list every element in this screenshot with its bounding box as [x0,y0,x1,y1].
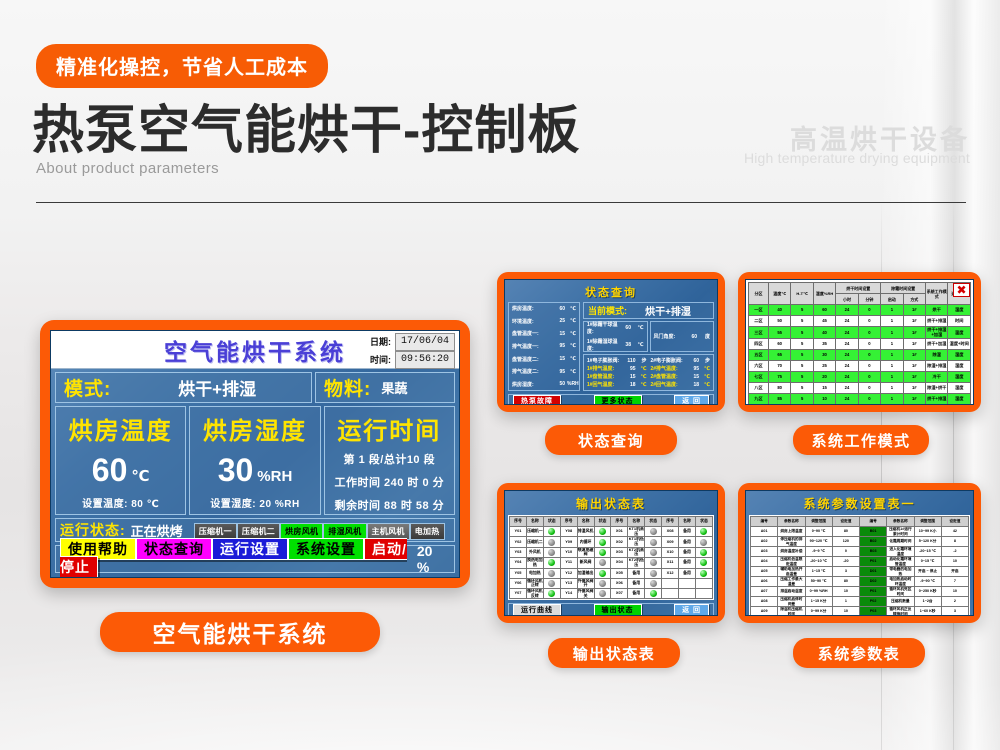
table-row: A07排湿启动湿度0~99 %RH10P01循环风机死区时间0~250 K秒10 [751,587,969,597]
param-name-right: 化霜周期时间 [887,537,914,547]
param-value-right[interactable]: 10 [941,557,968,567]
param-range-right: 开启 ~ 停止 [914,567,941,577]
output-th: 序号 [611,517,628,527]
work-mode-th: 温度℃ [768,283,790,305]
status-led-on [548,559,555,566]
temperature-card-title: 烘房温度 [69,411,173,446]
work-mode-cell-h: 24 [836,316,858,327]
output-cell-name [679,588,696,598]
param-value-left[interactable]: -20 [832,557,859,567]
work-mode-cell-temp: 40 [768,305,790,316]
param-name-left: 辅助电加热开启温差 [778,567,805,577]
work-mode-cell-temp: 70 [768,360,790,371]
current-mode-value: 烘干+排湿 [627,303,709,318]
current-mode-label: 当前模式: [588,304,627,317]
output-cell-name: KT2机低压 [628,558,645,568]
status-led-off [548,549,555,556]
work-mode-cell-way: 1# [903,360,925,371]
table-row: A08压缩机启停时间差1~15 K分1P02压缩机数量1~2台2 [751,597,969,607]
humidity-setpoint[interactable]: 设置湿度: 20 %RH [210,495,299,510]
output-cell-state [695,568,712,578]
runtime-lines: 第 1 段/总计10 段 工作时间 240 时 0 分 剩余时间 88 时 58… [334,451,444,513]
status-led-off [650,539,657,546]
work-mode-screen: 分区温度℃H-T℃湿度%RH烘干时间设置除霜时间设置系统工作模式退出模式小时分钟… [745,279,974,405]
output-cell-state [645,547,662,557]
output-cell-name: KT1机高压 [628,527,645,537]
table-row: Y03外风机Y10喷淋电磁阀X03KT2机高压X10备用 [510,547,713,557]
output-cell-name: 循环风机反转 [526,588,543,598]
param-value-left[interactable]: 80 [832,577,859,587]
param-th: 调整范围 [914,517,941,527]
work-mode-th: 小时 [836,294,858,305]
mode-label: 模式: [64,374,111,401]
work-mode-cell-ht: 5 [791,349,813,360]
damper-row-1: 风门角度:60度 [654,333,711,340]
work-mode-cell-temp: 75 [768,371,790,382]
work-mode-cell-zone: 十区 [749,404,769,405]
work-mode-cell-m: 0 [858,404,880,405]
output-cell-state [543,558,560,568]
runtime-segment: 第 1 段/总计10 段 [344,451,436,467]
main-button-2[interactable]: 状态查询 [136,538,212,560]
work-mode-cell-way: 1# [903,393,925,404]
work-mode-cell-temp: 65 [768,349,790,360]
param-range-left: 50~90 ℃ [805,577,832,587]
work-mode-cell-ht: 5 [791,393,813,404]
work-mode-cell-ht: 5 [791,327,813,339]
param-code-left: A08 [751,597,778,607]
output-cell-name: 压缩机一 [526,527,543,537]
table-row: A01烘房上限温度0~90 ℃80B01压缩机1#运行累计时间10~99 K小4… [751,527,969,537]
status-led-off [650,570,657,577]
work-mode-cell-exit: 湿度 [948,305,971,316]
output-cell-id: Y01 [510,527,527,537]
main-button-bar: 使用帮助状态查询运行设置系统设置启动/停止 20 % [55,545,455,573]
output-cell-id: X11 [662,558,679,568]
status-led-on [599,528,606,535]
status-query-footer: 热泵故障更多状态返 回 [508,394,714,405]
output-th: 名称 [679,517,696,527]
work-mode-cell-way: 1# [903,404,925,405]
param-range-right: 1~60 K秒 [914,607,941,617]
output-th: 状态 [695,517,712,527]
work-mode-cell-way: 1# [903,371,925,382]
time-value: 09:56:20 [395,351,455,369]
output-cell-id: X07 [611,588,628,598]
temperature-set-unit: ℃ [147,499,160,510]
work-mode-cell-ht: 5 [791,371,813,382]
status-query-button-1[interactable]: 热泵故障 [513,395,561,405]
output-th: 状态 [594,517,611,527]
param-th: 调整范围 [805,517,832,527]
table-row: 九区8551024011#烘干+排湿湿度 [749,393,971,404]
page-header: 精准化操控，节省人工成本 热泵空气能烘干-控制板 About product p… [0,0,1000,200]
output-cell-id: X08 [662,527,679,537]
status-led-off [700,539,707,546]
table-row: Y02压缩机二Y09内循环X02KT1机低压X09备用 [510,537,713,547]
status-query-device: 状态查询 烘房温度:60℃环境温度:25℃盘管温度一:15℃排气温度一:95℃盘… [497,272,725,412]
fan-percent: 20 % [417,543,446,575]
work-mode-cell-temp: 50 [768,316,790,327]
output-cell-state [543,588,560,598]
output-cell-id: X06 [611,578,628,588]
work-mode-cell-ht: 5 [791,360,813,371]
temperature-setpoint[interactable]: 设置温度: 80 ℃ [82,495,159,510]
work-mode-cell-mode: 烘干+加湿 [926,338,948,349]
param-range-left: 90~120 ℃ [805,537,832,547]
close-icon[interactable]: ✖ [953,283,970,297]
output-status-device: 输出状态表 序号名称状态序号名称状态序号名称状态序号名称状态 Y01压缩机一Y0… [497,483,725,623]
output-cell-state [645,537,662,547]
work-mode-cell-m: 0 [858,327,880,339]
param-table-device: 系统参数设置表一 编号参数名称调整范围设定值编号参数名称调整范围设定值 A01烘… [738,483,981,623]
param-name-left: 排湿启动湿度 [778,587,805,597]
work-mode-cell-m: 0 [858,382,880,393]
date-value: 17/06/04 [395,333,455,351]
material-label: 物料: [324,374,371,401]
output-status-table: 序号名称状态序号名称状态序号名称状态序号名称状态 Y01压缩机一Y08排湿风机X… [509,516,713,599]
param-value-right[interactable]: 7 [941,577,968,587]
param-value-right[interactable]: 2 [941,597,968,607]
output-cell-name: 外风机 [526,547,543,557]
work-mode-th: 分钟 [858,294,880,305]
param-code-right: B03 [860,547,887,557]
work-mode-cell-m: 0 [858,393,880,404]
output-cell-id: Y09 [560,537,577,547]
status-led-off [650,549,657,556]
caption-status-query: 状态查询 [545,425,677,455]
table-row: A05辅助电加热开启温差1~15 ℃3D01带电器的电加热开启 ~ 停止开启 [751,567,969,577]
work-mode-cell-exit: 湿度 [948,360,971,371]
humidity-unit: %RH [257,468,292,485]
param-code-right: P01 [860,587,887,597]
output-cell-name: 备用 [679,558,696,568]
output-tbody: Y01压缩机一Y08排湿风机X01KT1机高压X08备用Y02压缩机二Y09内循… [510,527,713,599]
mode-field[interactable]: 模式: 烘干+排湿 [55,372,312,403]
status-led-on [650,590,657,597]
work-mode-cell-m: 0 [858,349,880,360]
param-code-left: A05 [751,567,778,577]
param-code-left: A07 [751,587,778,597]
status-led-on [599,570,606,577]
output-cell-id: X10 [662,547,679,557]
work-mode-cell-hum: 30 [813,349,835,360]
param-value-left[interactable]: 80 [832,527,859,537]
work-mode-cell-start: 1 [881,305,903,316]
status-left-row-2: 环境温度:25℃ [510,318,578,325]
table-row: 六区7052524011#除湿+排湿湿度 [749,360,971,371]
main-button-3[interactable]: 运行设置 [212,538,288,560]
work-mode-cell-temp: 85 [768,404,790,405]
table-row: A02停压缩机的排气温度90~120 ℃120B02化霜周期时间5~120 K分… [751,537,969,547]
work-mode-cell-exit: 时间 [948,316,971,327]
param-code-right: B02 [860,537,887,547]
work-mode-cell-zone: 六区 [749,360,769,371]
param-value-right[interactable]: 8 [941,537,968,547]
param-range-left: -9~9 ℃ [805,547,832,557]
param-value-right[interactable]: 开启 [941,567,968,577]
work-mode-cell-ht: 5 [791,404,813,405]
work-mode-cell-h: 24 [836,327,858,339]
datetime-block: 日期: 17/06/04 时间: 09:56:20 [370,333,455,369]
param-range-left: 0~99 %RH [805,587,832,597]
temperature-value: 60℃ [92,452,150,489]
param-range-right: 5~120 K分 [914,537,941,547]
output-cell-state [594,578,611,588]
output-cell-state [594,558,611,568]
status-led-on [548,528,555,535]
table-row: Y07循环风机反转Y14外循风阀关X07备用 [510,588,713,598]
param-name-right: 压缩机1#运行累计时间 [887,527,914,537]
work-mode-cell-start: 1 [881,382,903,393]
param-value-right[interactable]: -2 [941,547,968,557]
output-cell-state [695,527,712,537]
work-mode-cell-zone: 五区 [749,349,769,360]
header-divider [36,202,966,203]
mode-material-row: 模式: 烘干+排湿 物料: 果蔬 [51,369,459,403]
material-field[interactable]: 物料: 果蔬 [315,372,455,403]
param-value-right[interactable]: 10 [941,587,968,597]
param-th: 设定值 [941,517,968,527]
status-query-button-3[interactable]: 返 回 [674,395,709,405]
output-cell-id: Y10 [560,547,577,557]
param-name-right: 电加热启动时环温度 [887,577,914,587]
status-led-on [700,570,707,577]
param-name-right: 循环风机正反转换时间 [887,607,914,617]
work-mode-th: 烘干时间设置 [836,283,881,294]
work-mode-cell-h: 24 [836,360,858,371]
status-led-on [700,528,707,535]
output-cell-name: 循环风机正转 [526,578,543,588]
sensor-row-4: 2#排气温度:95℃ [651,365,711,372]
param-range-right: -9~90 ℃ [914,577,941,587]
param-header-row: 编号参数名称调整范围设定值编号参数名称调整范围设定值 [751,517,969,527]
status-left-row-4: 排气温度一:95℃ [510,343,578,350]
status-right-area: 当前模式: 烘干+排湿 1#除霜干球温度:60℃1#除霜湿球温度:38℃ 风门角… [583,302,714,391]
humidity-value: 30%RH [218,452,293,489]
work-mode-cell-mode: 烘干+排湿+加湿 [926,327,948,339]
param-value-left[interactable]: 120 [832,537,859,547]
sensor-row-1: 1#电子膨胀阀:110步 [587,357,647,364]
table-row: 十区855524011#烘干+排湿湿度 [749,404,971,405]
status-query-button-2[interactable]: 更多状态 [594,395,642,405]
runtime-card: 运行时间 第 1 段/总计10 段 工作时间 240 时 0 分 剩余时间 88… [324,406,455,515]
work-mode-tbody: 一区4056024011#烘干湿度二区5054524011#烘干+排湿时间三区5… [749,305,971,406]
sensor-row-7: 1#回气温度:18℃ [587,381,647,388]
run-status-value: 正在烘烤 [131,521,183,540]
param-code-left: A03 [751,547,778,557]
defrost-row-1: 1#除霜干球温度:60℃ [587,321,644,335]
sensor-row-6: 2#盘管温度:15℃ [651,373,711,380]
param-code-right: D01 [860,567,887,577]
output-thead: 序号名称状态序号名称状态序号名称状态序号名称状态 [510,517,713,527]
param-value-left[interactable]: 0 [832,547,859,557]
work-mode-cell-exit: 湿度+时间 [948,338,971,349]
param-th: 编号 [860,517,887,527]
work-mode-cell-hum: 35 [813,338,835,349]
table-row: A06压缩工作最大温差50~90 ℃80D02电加热启动时环温度-9~90 ℃7 [751,577,969,587]
param-name-left: 压缩机低温限定温度 [778,557,805,567]
param-value-left[interactable]: 3 [832,567,859,577]
status-left-row-3: 盘管温度一:15℃ [510,330,578,337]
output-cell-state [645,527,662,537]
output-cell-state [695,547,712,557]
output-cell-name: 换热电加热 [526,558,543,568]
output-cell-id: Y11 [560,558,577,568]
work-mode-cell-hum: 40 [813,327,835,339]
work-mode-cell-temp: 85 [768,393,790,404]
status-led-off [599,559,606,566]
work-mode-cell-start: 1 [881,349,903,360]
output-cell-name: 备用 [628,588,645,598]
work-mode-cell-start: 1 [881,338,903,349]
caption-work-mode: 系统工作模式 [793,425,929,455]
work-mode-cell-h: 24 [836,305,858,316]
param-code-right: B01 [860,527,887,537]
status-led-on [599,549,606,556]
output-cell-state [594,568,611,578]
date-label: 日期: [370,334,391,350]
work-mode-cell-hum: 60 [813,305,835,316]
defrost-row: 1#除霜干球温度:60℃1#除霜湿球温度:38℃ 风门角度:60度 [583,321,714,352]
param-thead: 编号参数名称调整范围设定值编号参数名称调整范围设定值 [751,517,969,527]
work-mode-cell-start: 1 [881,393,903,404]
output-cell-state [594,527,611,537]
status-led-off [650,528,657,535]
param-name-left: 压缩工作最大温差 [778,577,805,587]
time-label: 时间: [370,352,391,368]
watermark-en: High temperature drying equipment [744,150,970,166]
work-mode-cell-h: 24 [836,393,858,404]
work-mode-cell-exit: 温度 [948,327,971,339]
output-button-2[interactable]: 输出状态 [594,604,642,616]
runtime-card-title: 运行时间 [337,411,441,446]
output-table-wrap: 序号名称状态序号名称状态序号名称状态序号名称状态 Y01压缩机一Y08排湿风机X… [508,515,714,600]
param-value-left[interactable]: 10 [832,607,859,617]
output-cell-state [695,558,712,568]
status-query-screen: 状态查询 烘房温度:60℃环境温度:25℃盘管温度一:15℃排气温度一:95℃盘… [504,279,718,405]
output-th: 状态 [543,517,560,527]
work-mode-th: 分区 [749,283,769,305]
output-status-screen: 输出状态表 序号名称状态序号名称状态序号名称状态序号名称状态 Y01压缩机一Y0… [504,490,718,616]
output-cell-name: 内循环 [577,537,594,547]
status-led-off [650,580,657,587]
status-query-title: 状态查询 [508,283,714,302]
param-range-right: 0~15 ℃ [914,557,941,567]
output-th: 名称 [577,517,594,527]
param-name-right: 压缩机数量 [887,597,914,607]
work-mode-cell-temp: 80 [768,382,790,393]
output-cell-name: 外循风阀关 [577,588,594,598]
table-row: 三区5554024011#烘干+排湿+加湿温度 [749,327,971,339]
param-code-right: P03 [860,607,887,617]
defrost-temps-box: 1#除霜干球温度:60℃1#除霜湿球温度:38℃ [583,321,648,352]
output-cell-name: 备用 [628,578,645,588]
output-cell-name: 排湿风机 [577,527,594,537]
param-range-right: 1~2台 [914,597,941,607]
param-value-right[interactable]: 3 [941,607,968,617]
output-cell-state [594,547,611,557]
work-mode-cell-exit: 湿度 [948,371,971,382]
work-mode-cell-m: 0 [858,316,880,327]
work-mode-th: 方式 [903,294,925,305]
work-mode-cell-h: 24 [836,382,858,393]
output-button-1[interactable]: 运行曲线 [513,604,561,616]
param-name-left: 除湿机压缩机时间 [778,607,805,617]
param-value-right[interactable]: 42 [941,527,968,537]
table-row: Y05电加热Y12加湿输出X05备用X12备用 [510,568,713,578]
caption-main: 空气能烘干系统 [100,612,380,652]
work-mode-th: 启动 [881,294,903,305]
work-mode-th: 系统工作模式 [926,283,948,305]
output-cell-state [594,537,611,547]
table-row: 一区4056024011#烘干湿度 [749,305,971,316]
work-mode-cell-hum: 15 [813,382,835,393]
output-th: 状态 [645,517,662,527]
output-cell-id: X05 [611,568,628,578]
output-cell-name: 备用 [679,547,696,557]
output-cell-id: Y12 [560,568,577,578]
output-status-footer: 运行曲线输出状态返 回 [508,603,714,616]
work-mode-cell-way: 1# [903,327,925,339]
work-mode-cell-m: 0 [858,360,880,371]
sensor-row-2: 2#电子膨胀阀:60步 [651,357,711,364]
output-cell-state [645,578,662,588]
work-mode-cell-mode: 冷干 [926,371,948,382]
output-cell-id: Y08 [560,527,577,537]
output-cell-id: Y07 [510,588,527,598]
work-mode-cell-exit: 湿度 [948,404,971,405]
device-chip-6[interactable]: 电加热 [410,523,445,540]
status-left-row-6: 排气温度二:95℃ [510,368,578,375]
work-mode-cell-zone: 九区 [749,393,769,404]
main-titlebar: 空气能烘干系统 日期: 17/06/04 时间: 09:56:20 [51,331,459,369]
param-range-left: -20~10 ℃ [805,557,832,567]
output-cell-name: KT1机低压 [628,537,645,547]
status-left-readouts: 烘房温度:60℃环境温度:25℃盘管温度一:15℃排气温度一:95℃盘管温度二:… [508,302,580,391]
status-left-row-7: 烘房湿度:50%RH [510,381,578,388]
main-button-4[interactable]: 系统设置 [288,538,364,560]
work-mode-cell-m: 0 [858,371,880,382]
param-code-right: D02 [860,577,887,587]
main-button-group: 使用帮助状态查询运行设置系统设置启动/停止 [60,541,411,577]
param-name-right: 启动化霜环境管温度 [887,557,914,567]
table-row: Y04换热电加热Y11新风阀X04KT2机低压X11备用 [510,558,713,568]
temperature-card: 烘房温度 60℃ 设置温度: 80 ℃ [55,406,186,515]
param-table-screen: 系统参数设置表一 编号参数名称调整范围设定值编号参数名称调整范围设定值 A01烘… [745,490,974,616]
status-led-off [599,590,606,597]
work-mode-cell-h: 24 [836,349,858,360]
work-mode-cell-m: 0 [858,305,880,316]
work-mode-cell-ht: 5 [791,382,813,393]
param-value-left[interactable]: 1 [832,597,859,607]
param-range-left: 1~15 K分 [805,597,832,607]
table-row: 五区6553024011#除湿湿度 [749,349,971,360]
output-cell-name: 外循风阀开 [577,578,594,588]
param-value-left[interactable]: 10 [832,587,859,597]
output-cell-state [695,578,712,588]
output-cell-id: X09 [662,537,679,547]
param-name-left: 烘房温度补偿 [778,547,805,557]
output-cell-id: X12 [662,568,679,578]
output-cell-id: X02 [611,537,628,547]
param-th: 参数名称 [778,517,805,527]
param-code-right: P02 [860,597,887,607]
humidity-set-unit: %RH [275,499,300,510]
param-code-left: A04 [751,557,778,567]
output-button-3[interactable]: 返 回 [674,604,709,616]
work-mode-header-row-1: 分区温度℃H-T℃湿度%RH烘干时间设置除霜时间设置系统工作模式退出模式 [749,283,971,294]
